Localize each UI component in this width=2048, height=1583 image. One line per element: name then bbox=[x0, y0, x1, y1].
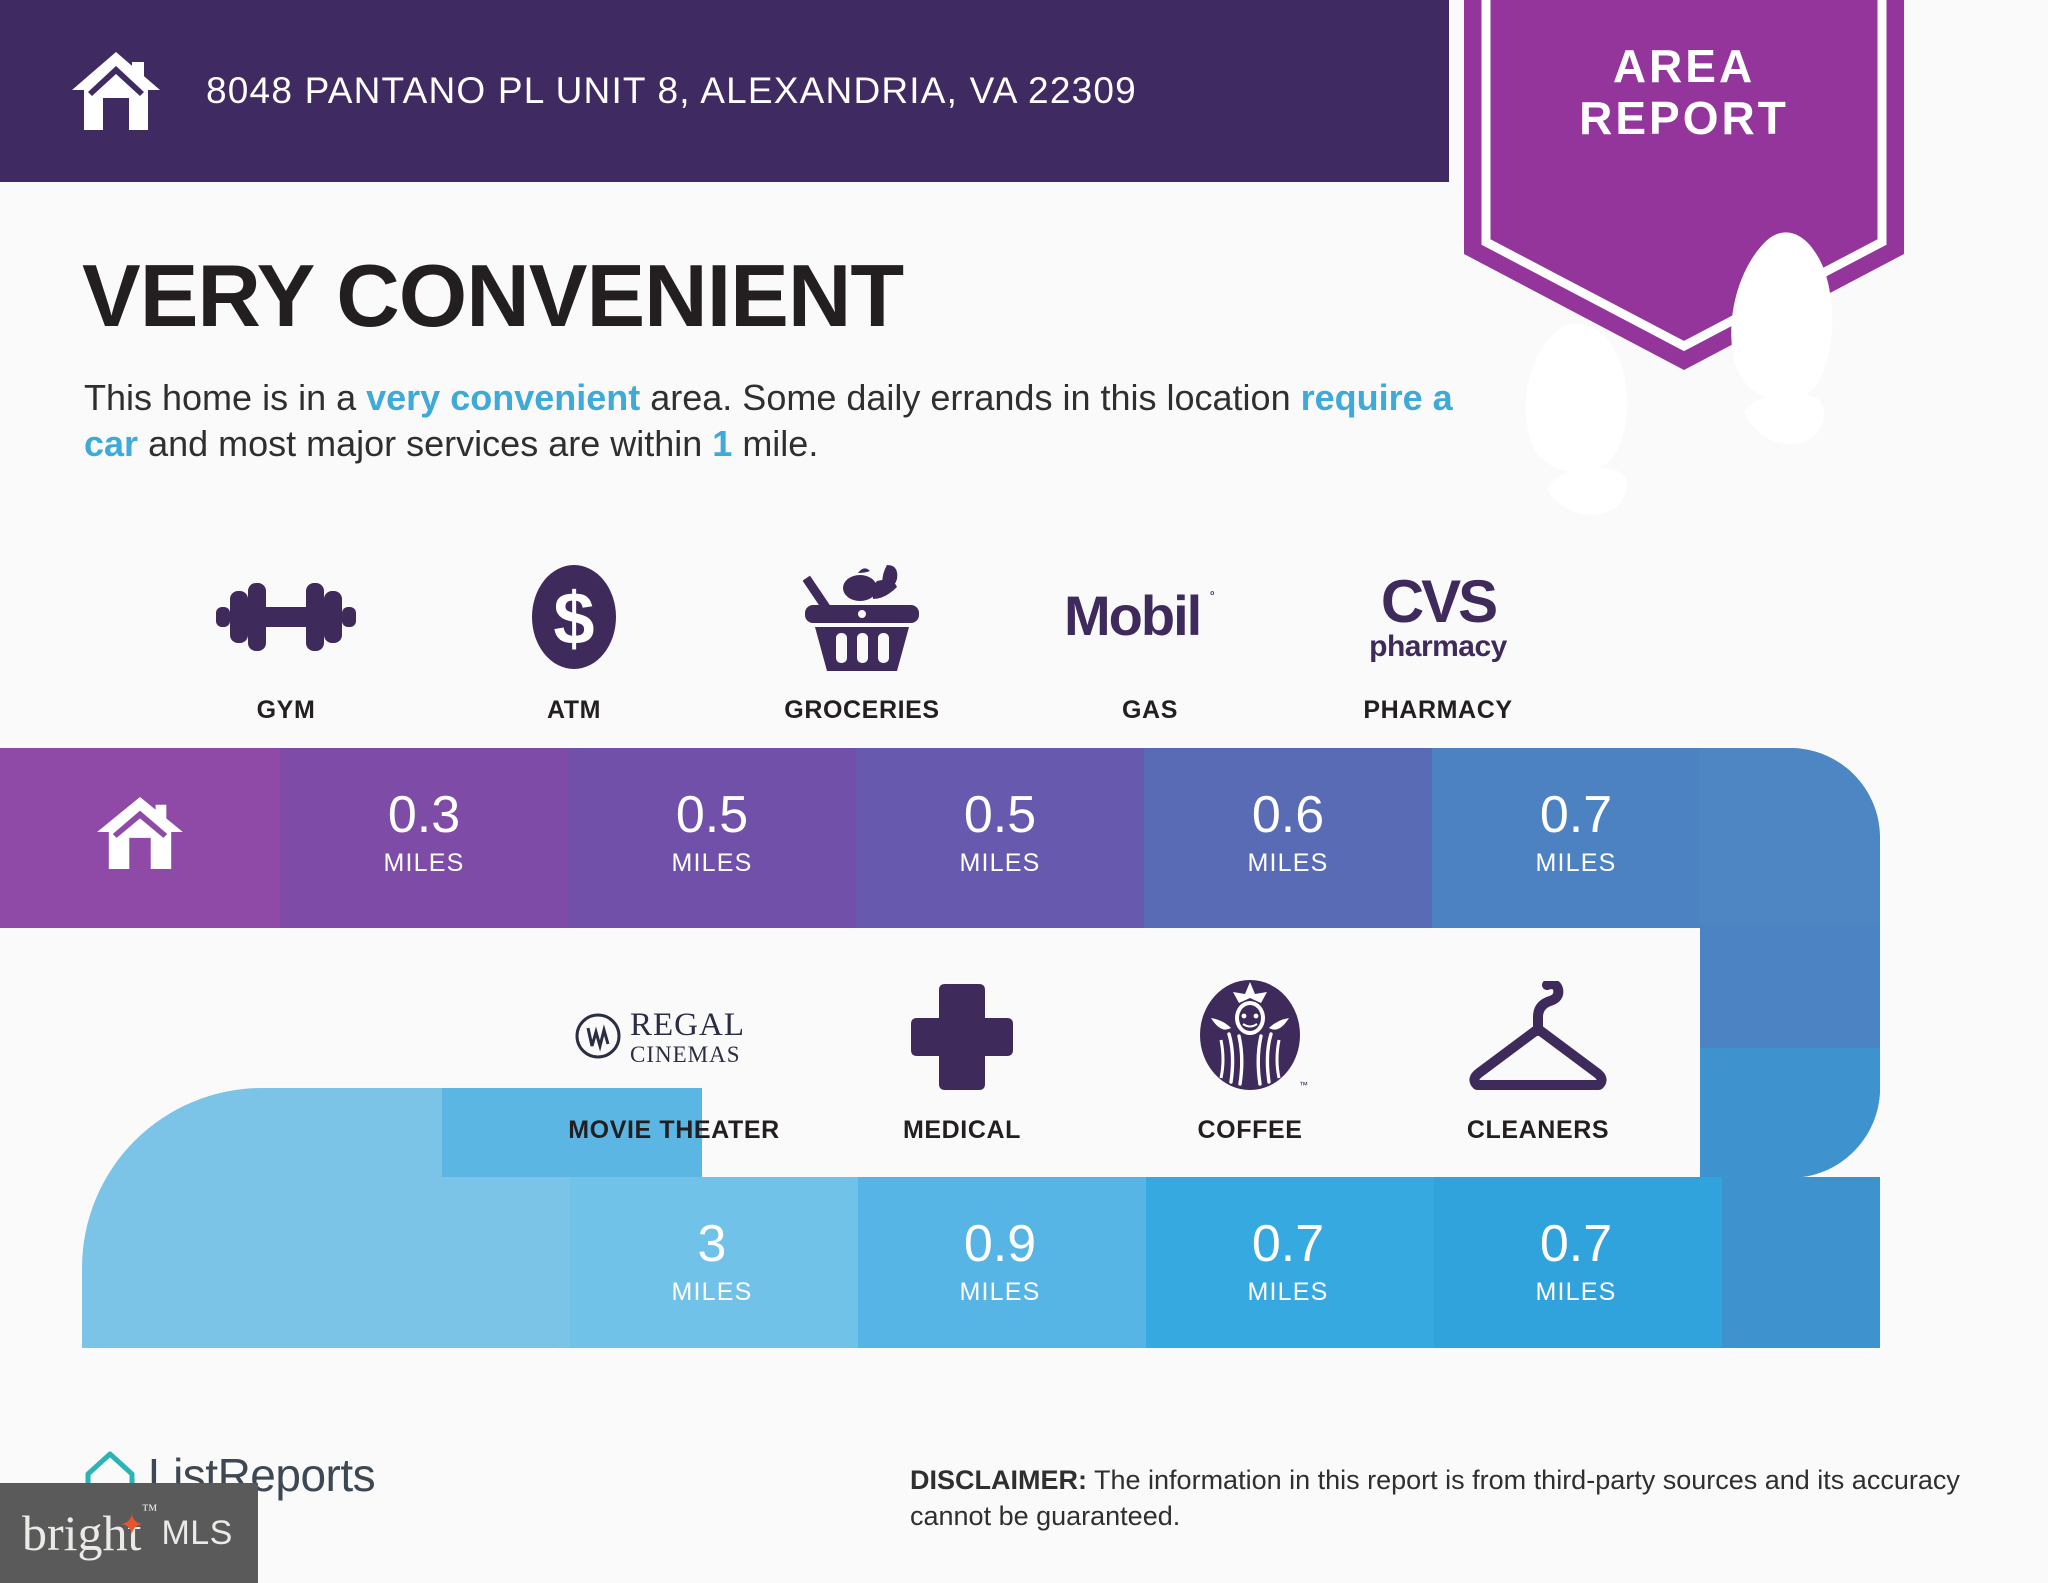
distance-unit: MILES bbox=[1247, 1278, 1328, 1307]
property-address: 8048 PANTANO PL UNIT 8, ALEXANDRIA, VA 2… bbox=[206, 70, 1137, 112]
svg-text:Mobil: Mobil bbox=[1064, 584, 1200, 647]
row2-icon-group: REGAL CINEMAS MOVIE THEATER MEDICAL bbox=[530, 978, 1682, 1145]
area-report-page: 8048 PANTANO PL UNIT 8, ALEXANDRIA, VA 2… bbox=[0, 0, 2048, 1583]
home-icon bbox=[70, 50, 162, 132]
bar-cell-coffee: 0.7 MILES bbox=[1144, 1177, 1432, 1347]
bar-cell-cleaners: 0.7 MILES bbox=[1432, 1177, 1720, 1347]
distance-unit: MILES bbox=[671, 1278, 752, 1307]
regal-cinemas-logo: REGAL CINEMAS bbox=[574, 978, 774, 1096]
mobil-logo: Mobil ˚ bbox=[1060, 558, 1240, 676]
bright-wordmark: bright ✦ ™ bbox=[22, 1504, 141, 1562]
bar-cell-medical: 0.9 MILES bbox=[856, 1177, 1144, 1347]
category-pharmacy: CVS pharmacy PHARMACY bbox=[1294, 558, 1582, 725]
distance-unit: MILES bbox=[1535, 849, 1616, 878]
category-label: CLEANERS bbox=[1467, 1116, 1609, 1145]
row2-distance-bar: 3 MILES 0.9 MILES 0.7 MILES 0.7 MILES bbox=[568, 1177, 1720, 1347]
category-label: ATM bbox=[547, 696, 601, 725]
disclaimer: DISCLAIMER: The information in this repo… bbox=[910, 1462, 1970, 1534]
bar-home-marker bbox=[0, 748, 280, 918]
badge-line-2: REPORT bbox=[1464, 92, 1904, 144]
category-label: PHARMACY bbox=[1363, 696, 1512, 725]
bar-cell-pharmacy: 0.7 MILES bbox=[1432, 748, 1720, 918]
category-label: GAS bbox=[1122, 696, 1178, 725]
distance-unit: MILES bbox=[959, 849, 1040, 878]
distance-unit: MILES bbox=[671, 849, 752, 878]
bar-cell-movie-theater: 3 MILES bbox=[568, 1177, 856, 1347]
distance-value: 0.3 bbox=[388, 789, 460, 841]
bright-mls-watermark: bright ✦ ™ MLS bbox=[0, 1483, 258, 1583]
dumbbell-icon bbox=[216, 558, 356, 676]
distance-value: 0.7 bbox=[1252, 1218, 1324, 1270]
svg-text:$: $ bbox=[553, 577, 594, 660]
distance-unit: MILES bbox=[959, 1278, 1040, 1307]
dollar-coin-icon: $ bbox=[524, 558, 624, 676]
badge-title: AREA REPORT bbox=[1464, 40, 1904, 145]
page-title: VERY CONVENIENT bbox=[82, 245, 903, 347]
footprints-icon bbox=[1464, 207, 1904, 587]
svg-text:˚: ˚ bbox=[1210, 591, 1215, 608]
medical-cross-icon bbox=[911, 978, 1013, 1096]
home-icon bbox=[94, 795, 186, 871]
summary-part-4: mile. bbox=[732, 423, 818, 464]
bar-cell-groceries: 0.5 MILES bbox=[856, 748, 1144, 918]
category-gas: Mobil ˚ GAS bbox=[1006, 558, 1294, 725]
distance-value: 0.9 bbox=[964, 1218, 1036, 1270]
trademark-symbol: ™ bbox=[142, 1502, 158, 1520]
category-medical: MEDICAL bbox=[818, 978, 1106, 1145]
category-atm: $ ATM bbox=[430, 558, 718, 725]
header-bar: 8048 PANTANO PL UNIT 8, ALEXANDRIA, VA 2… bbox=[0, 0, 1449, 182]
summary-highlight-1: very convenient bbox=[366, 377, 640, 418]
distance-value: 0.5 bbox=[964, 789, 1036, 841]
category-label: GROCERIES bbox=[784, 696, 939, 725]
category-gym: GYM bbox=[142, 558, 430, 725]
distance-unit: MILES bbox=[383, 849, 464, 878]
distance-unit: MILES bbox=[1535, 1278, 1616, 1307]
badge-line-1: AREA bbox=[1464, 40, 1904, 92]
distance-value: 3 bbox=[698, 1218, 727, 1270]
cvs-pharmacy-logo: CVS pharmacy bbox=[1355, 558, 1521, 676]
summary-part-2: area. Some daily errands in this locatio… bbox=[640, 377, 1300, 418]
summary-text: This home is in a very convenient area. … bbox=[84, 375, 1464, 466]
category-coffee: ™ COFFEE bbox=[1106, 978, 1394, 1145]
row1-distance-bar: 0.3 MILES 0.5 MILES 0.5 MILES 0.6 MILES … bbox=[0, 748, 1720, 918]
category-label: COFFEE bbox=[1198, 1116, 1303, 1145]
distance-value: 0.5 bbox=[676, 789, 748, 841]
category-cleaners: CLEANERS bbox=[1394, 978, 1682, 1145]
category-groceries: GROCERIES bbox=[718, 558, 1006, 725]
summary-part-1: This home is in a bbox=[84, 377, 366, 418]
svg-text:CINEMAS: CINEMAS bbox=[630, 1042, 741, 1067]
summary-part-3: and most major services are within bbox=[138, 423, 712, 464]
category-label: GYM bbox=[257, 696, 316, 725]
summary-highlight-3: 1 bbox=[712, 423, 732, 464]
svg-text:REGAL: REGAL bbox=[630, 1007, 745, 1043]
bar-cell-gym: 0.3 MILES bbox=[280, 748, 568, 918]
mls-text: MLS bbox=[161, 1514, 232, 1553]
svg-text:pharmacy: pharmacy bbox=[1369, 630, 1508, 663]
bar-cell-gas: 0.6 MILES bbox=[1144, 748, 1432, 918]
category-movie-theater: REGAL CINEMAS MOVIE THEATER bbox=[530, 978, 818, 1145]
category-label: MEDICAL bbox=[903, 1116, 1021, 1145]
row1-icon-group: GYM $ ATM bbox=[142, 558, 1582, 725]
distance-value: 0.6 bbox=[1252, 789, 1324, 841]
grocery-basket-icon bbox=[803, 558, 921, 676]
starbucks-logo: ™ bbox=[1191, 978, 1309, 1096]
clothes-hanger-icon bbox=[1469, 978, 1607, 1096]
distance-value: 0.7 bbox=[1540, 1218, 1612, 1270]
bar-cell-atm: 0.5 MILES bbox=[568, 748, 856, 918]
distance-unit: MILES bbox=[1247, 849, 1328, 878]
svg-text:CVS: CVS bbox=[1381, 570, 1496, 635]
disclaimer-label: DISCLAIMER: bbox=[910, 1465, 1087, 1495]
distance-value: 0.7 bbox=[1540, 789, 1612, 841]
svg-text:™: ™ bbox=[1299, 1080, 1308, 1090]
bright-star-icon: ✦ bbox=[119, 1508, 144, 1543]
area-report-badge: AREA REPORT bbox=[1464, 0, 1904, 372]
category-label: MOVIE THEATER bbox=[568, 1116, 780, 1145]
